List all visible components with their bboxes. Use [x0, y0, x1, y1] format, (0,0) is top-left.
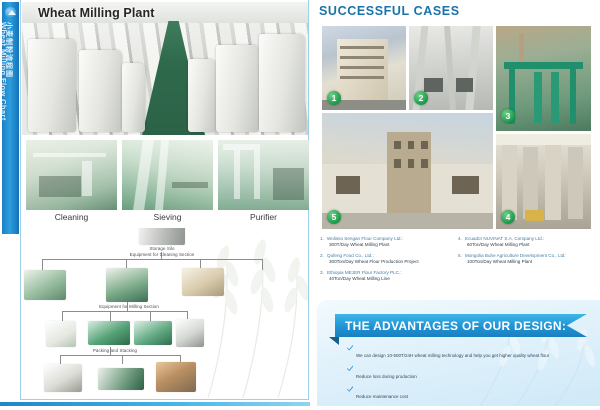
page-title-successful-cases: SUCCESSFUL CASES: [319, 4, 460, 18]
advantages-ribbon: THE ADVANTAGES OF OUR DESIGN:: [335, 314, 587, 337]
photo-caption-purifier: Purifier: [218, 212, 309, 222]
left-page: 小麦制粉流程图 Wheat Milling Flow Chart Wheat M…: [0, 0, 310, 410]
photo-machine: [259, 34, 305, 132]
photo-machine: [216, 45, 259, 133]
process-photo-sieving: [122, 140, 213, 210]
photo-machine: [188, 59, 217, 132]
case-item-number: 5.: [458, 253, 462, 258]
flow-label-packing-stacking: Packing and Stacking: [84, 348, 146, 353]
case-list-item: 3. Ethiopia MEJER Flour Factory PLC.: 40…: [320, 270, 456, 282]
case-item-spec: 300Ton/Day Wheat Flour Production Projec…: [327, 259, 456, 265]
milling-flow-chart: Storage Silo Equipment for Cleaning Sect…: [22, 228, 308, 398]
triangle-logo-icon: [5, 7, 16, 18]
flow-node-packing-2: [98, 368, 144, 390]
case-item-number: 4.: [458, 236, 462, 241]
flow-node-cleaning-1: [24, 270, 66, 300]
case-item-number: 2.: [320, 253, 324, 258]
flow-node-milling-4: [176, 319, 204, 347]
case-badge-3: 3: [501, 109, 515, 123]
case-item-spec: 40Ton/Day Wheat Milling Line: [327, 276, 456, 282]
case-item-spec: 100Ton/Day Wheat Milling Plant: [465, 259, 594, 265]
process-photo-purifier: [218, 140, 309, 210]
photo-machine: [122, 63, 145, 132]
hero-factory-photo: [22, 2, 308, 135]
case-item-number: 3.: [320, 270, 324, 275]
case-item-spec: 60Ton/Day Wheat Milling Plant: [465, 242, 594, 248]
case-list: 1. Wolisso Sengan Flour Company Ltd.: 30…: [320, 236, 592, 294]
advantage-text: Reduce maintenance cost: [356, 394, 408, 399]
bottom-accent-rule: [0, 402, 310, 406]
flow-label-storage-silo: Storage Silo: [132, 246, 192, 251]
case-badge-1: 1: [327, 91, 341, 105]
flow-node-packing-3: [156, 362, 196, 392]
case-badge-4: 4: [501, 210, 515, 224]
advantage-text: Reduce loss during production: [356, 374, 417, 379]
photo-caption-sieving: Sieving: [122, 212, 213, 222]
advantage-item: We can design 10-500T/24H wheat milling …: [347, 344, 587, 362]
case-badge-5: 5: [327, 210, 341, 224]
case-photo-3: 3: [496, 26, 591, 131]
flow-node-storage-silo: [139, 228, 185, 245]
case-item-number: 1.: [320, 236, 324, 241]
photo-machine: [79, 50, 122, 132]
flow-node-cleaning-2: [106, 268, 148, 302]
vertical-sidebar-tab: 小麦制粉流程图 Wheat Milling Flow Chart: [2, 2, 19, 234]
photo-machine: [28, 39, 77, 132]
case-photo-1: 1: [322, 26, 406, 110]
advantages-panel: THE ADVANTAGES OF OUR DESIGN: We can des…: [317, 300, 600, 406]
hero-title: Wheat Milling Plant: [38, 6, 154, 20]
flow-label-milling-section: Equipment for Milling Section: [98, 304, 160, 309]
right-page: SUCCESSFUL CASES 1 2 3: [312, 0, 600, 410]
sidebar-english-label: Wheat Milling Flow Chart: [2, 22, 8, 121]
photo-caption-cleaning: Cleaning: [26, 212, 117, 222]
case-list-item: 5. Mongolia Buhe Agriculture Development…: [458, 253, 594, 265]
flow-node-cleaning-3: [182, 268, 224, 296]
check-icon: [347, 345, 353, 351]
flow-node-packing-1: [44, 364, 82, 392]
case-photo-2: 2: [409, 26, 493, 110]
case-photo-4: 4: [496, 134, 591, 229]
case-list-item: 1. Wolisso Sengan Flour Company Ltd.: 30…: [320, 236, 456, 248]
advantages-title: THE ADVANTAGES OF OUR DESIGN:: [345, 319, 566, 333]
ribbon-tail-shape: [329, 337, 339, 345]
check-icon: [347, 386, 353, 392]
flow-node-milling-3: [134, 321, 172, 345]
case-list-item: 4. Ecuador NUVINAT S.A. Company Ltd.: 60…: [458, 236, 594, 248]
case-list-column-right: 4. Ecuador NUVINAT S.A. Company Ltd.: 60…: [458, 236, 594, 270]
case-photo-5: 5: [322, 113, 493, 229]
advantages-list: We can design 10-500T/24H wheat milling …: [347, 344, 587, 406]
advantage-item: Reduce maintenance cost: [347, 385, 587, 403]
case-item-spec: 300T/Day Wheat Milling Plant: [327, 242, 456, 248]
flow-node-milling-2: [88, 321, 130, 345]
process-photo-cleaning: [26, 140, 117, 210]
case-badge-2: 2: [414, 91, 428, 105]
flow-label-cleaning-section: Equipment for Cleaning Section: [127, 252, 197, 257]
case-list-column-left: 1. Wolisso Sengan Flour Company Ltd.: 30…: [320, 236, 456, 287]
brochure-page: 小麦制粉流程图 Wheat Milling Flow Chart Wheat M…: [0, 0, 600, 410]
check-icon: [347, 365, 353, 371]
advantage-text: We can design 10-500T/24H wheat milling …: [356, 353, 549, 358]
case-list-item: 2. Qufeng Food Co., Ltd.: 300Ton/Day Whe…: [320, 253, 456, 265]
flow-node-milling-1: [46, 321, 76, 347]
advantage-item: Reduce loss during production: [347, 365, 587, 383]
